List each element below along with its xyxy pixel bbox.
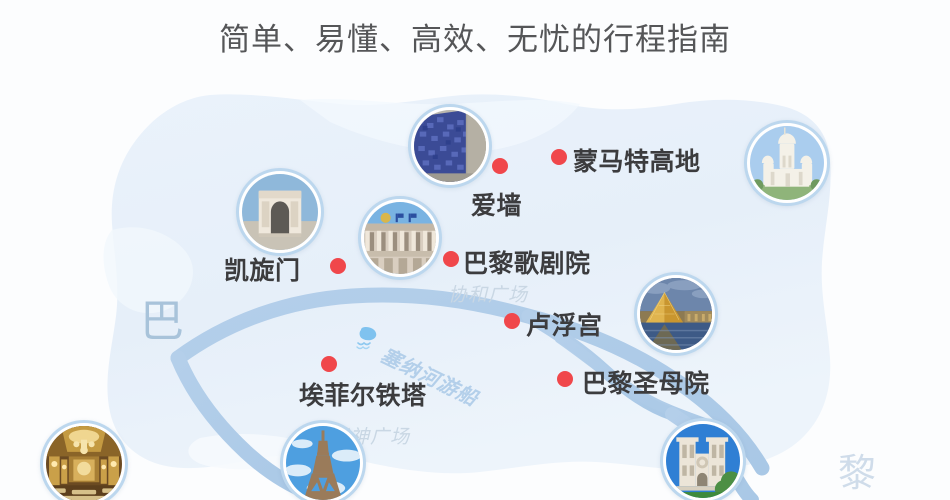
- arc-de-triomphe-label: 凯旋门: [224, 251, 301, 287]
- paris-opera-label: 巴黎歌剧院: [463, 244, 591, 280]
- wall-of-love-label: 爱墙: [471, 186, 522, 222]
- golden-hall-bubble[interactable]: [40, 420, 128, 500]
- louvre-dot[interactable]: [504, 313, 520, 329]
- palais-garnier-photo: [364, 202, 436, 274]
- page-title: 简单、易懂、高效、无忧的行程指南: [219, 14, 731, 59]
- arc-de-triomphe-dot[interactable]: [330, 258, 346, 274]
- place-de-la-concorde-label: 协和广场: [448, 280, 528, 307]
- notre-dame-bubble[interactable]: [660, 418, 746, 500]
- city-char-li: 黎: [838, 455, 876, 493]
- eiffel-tower-photo: [286, 426, 360, 500]
- travel-guide-map-page: 简单、易懂、高效、无忧的行程指南: [0, 0, 950, 500]
- wall-of-love-dot[interactable]: [492, 158, 508, 174]
- arc-de-triomphe-bubble[interactable]: [236, 168, 324, 256]
- ornate-hall-photo: [46, 426, 122, 500]
- notre-dame-dot[interactable]: [557, 371, 573, 387]
- louvre-bubble[interactable]: [634, 272, 718, 356]
- eiffel-tower-dot[interactable]: [321, 356, 337, 372]
- montmartre-dot[interactable]: [551, 149, 567, 165]
- louvre-pyramid-photo: [640, 278, 712, 350]
- river-cruise-boat-icon: [355, 326, 381, 355]
- montmartre-label: 蒙马特高地: [573, 142, 701, 178]
- city-char-ba: 巴: [140, 300, 184, 344]
- paris-opera-bubble[interactable]: [358, 196, 442, 280]
- notre-dame-photo: [666, 424, 740, 498]
- eiffel-tower-label: 埃菲尔铁塔: [299, 376, 427, 412]
- arc-de-triomphe-photo: [242, 174, 318, 250]
- wall-of-love-bubble[interactable]: [408, 104, 492, 188]
- sacre-coeur-photo: [750, 126, 824, 200]
- paris-opera-dot[interactable]: [443, 251, 459, 267]
- eiffel-tower-bubble[interactable]: [280, 420, 366, 500]
- louvre-label: 卢浮宫: [526, 306, 603, 342]
- montmartre-bubble[interactable]: [744, 120, 830, 206]
- page-header: 简单、易懂、高效、无忧的行程指南: [0, 0, 950, 72]
- wall-of-love-photo: [414, 110, 486, 182]
- notre-dame-label: 巴黎圣母院: [582, 364, 710, 400]
